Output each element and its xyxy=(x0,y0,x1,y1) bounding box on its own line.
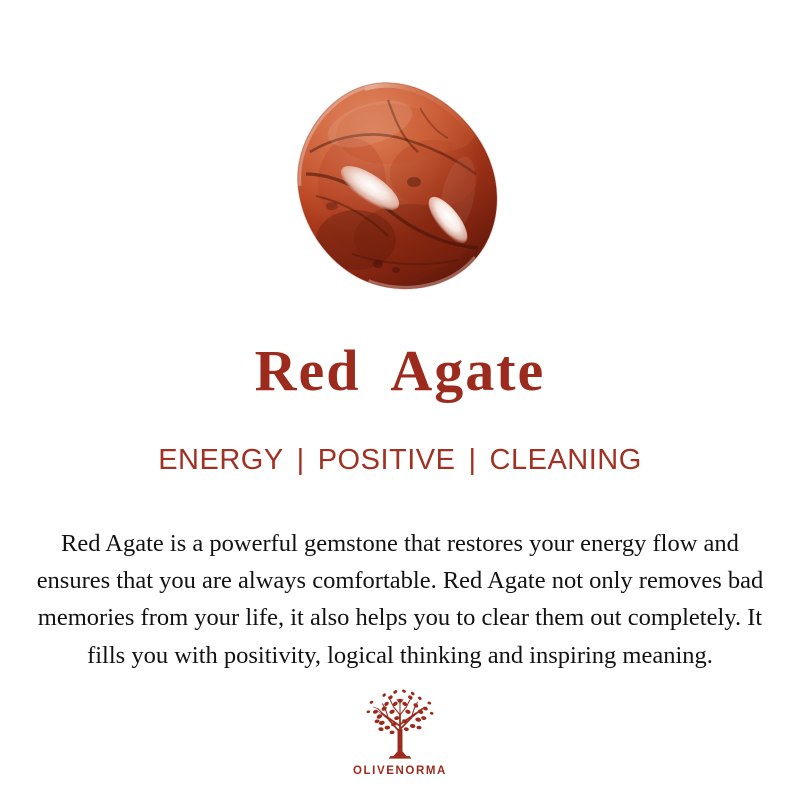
tree-icon xyxy=(360,688,440,764)
product-image-area xyxy=(0,0,800,320)
keyword-separator-2: | xyxy=(468,443,476,478)
keyword-separator-1: | xyxy=(297,443,305,478)
keyword-list: ENERGY | POSITIVE | CLEANING xyxy=(0,443,800,478)
keyword-cleaning: CLEANING xyxy=(490,443,642,478)
red-agate-stone-icon xyxy=(292,78,508,294)
brand-logo: OLIVENORMA xyxy=(0,688,800,778)
product-card: Red Agate ENERGY | POSITIVE | CLEANING R… xyxy=(0,0,800,800)
gemstone-image xyxy=(292,78,508,294)
keyword-positive: POSITIVE xyxy=(318,443,456,478)
brand-name: OLIVENORMA xyxy=(353,766,447,778)
product-description: Red Agate is a powerful gemstone that re… xyxy=(24,525,776,675)
keyword-energy: ENERGY xyxy=(158,443,283,478)
page-title: Red Agate xyxy=(0,338,800,405)
